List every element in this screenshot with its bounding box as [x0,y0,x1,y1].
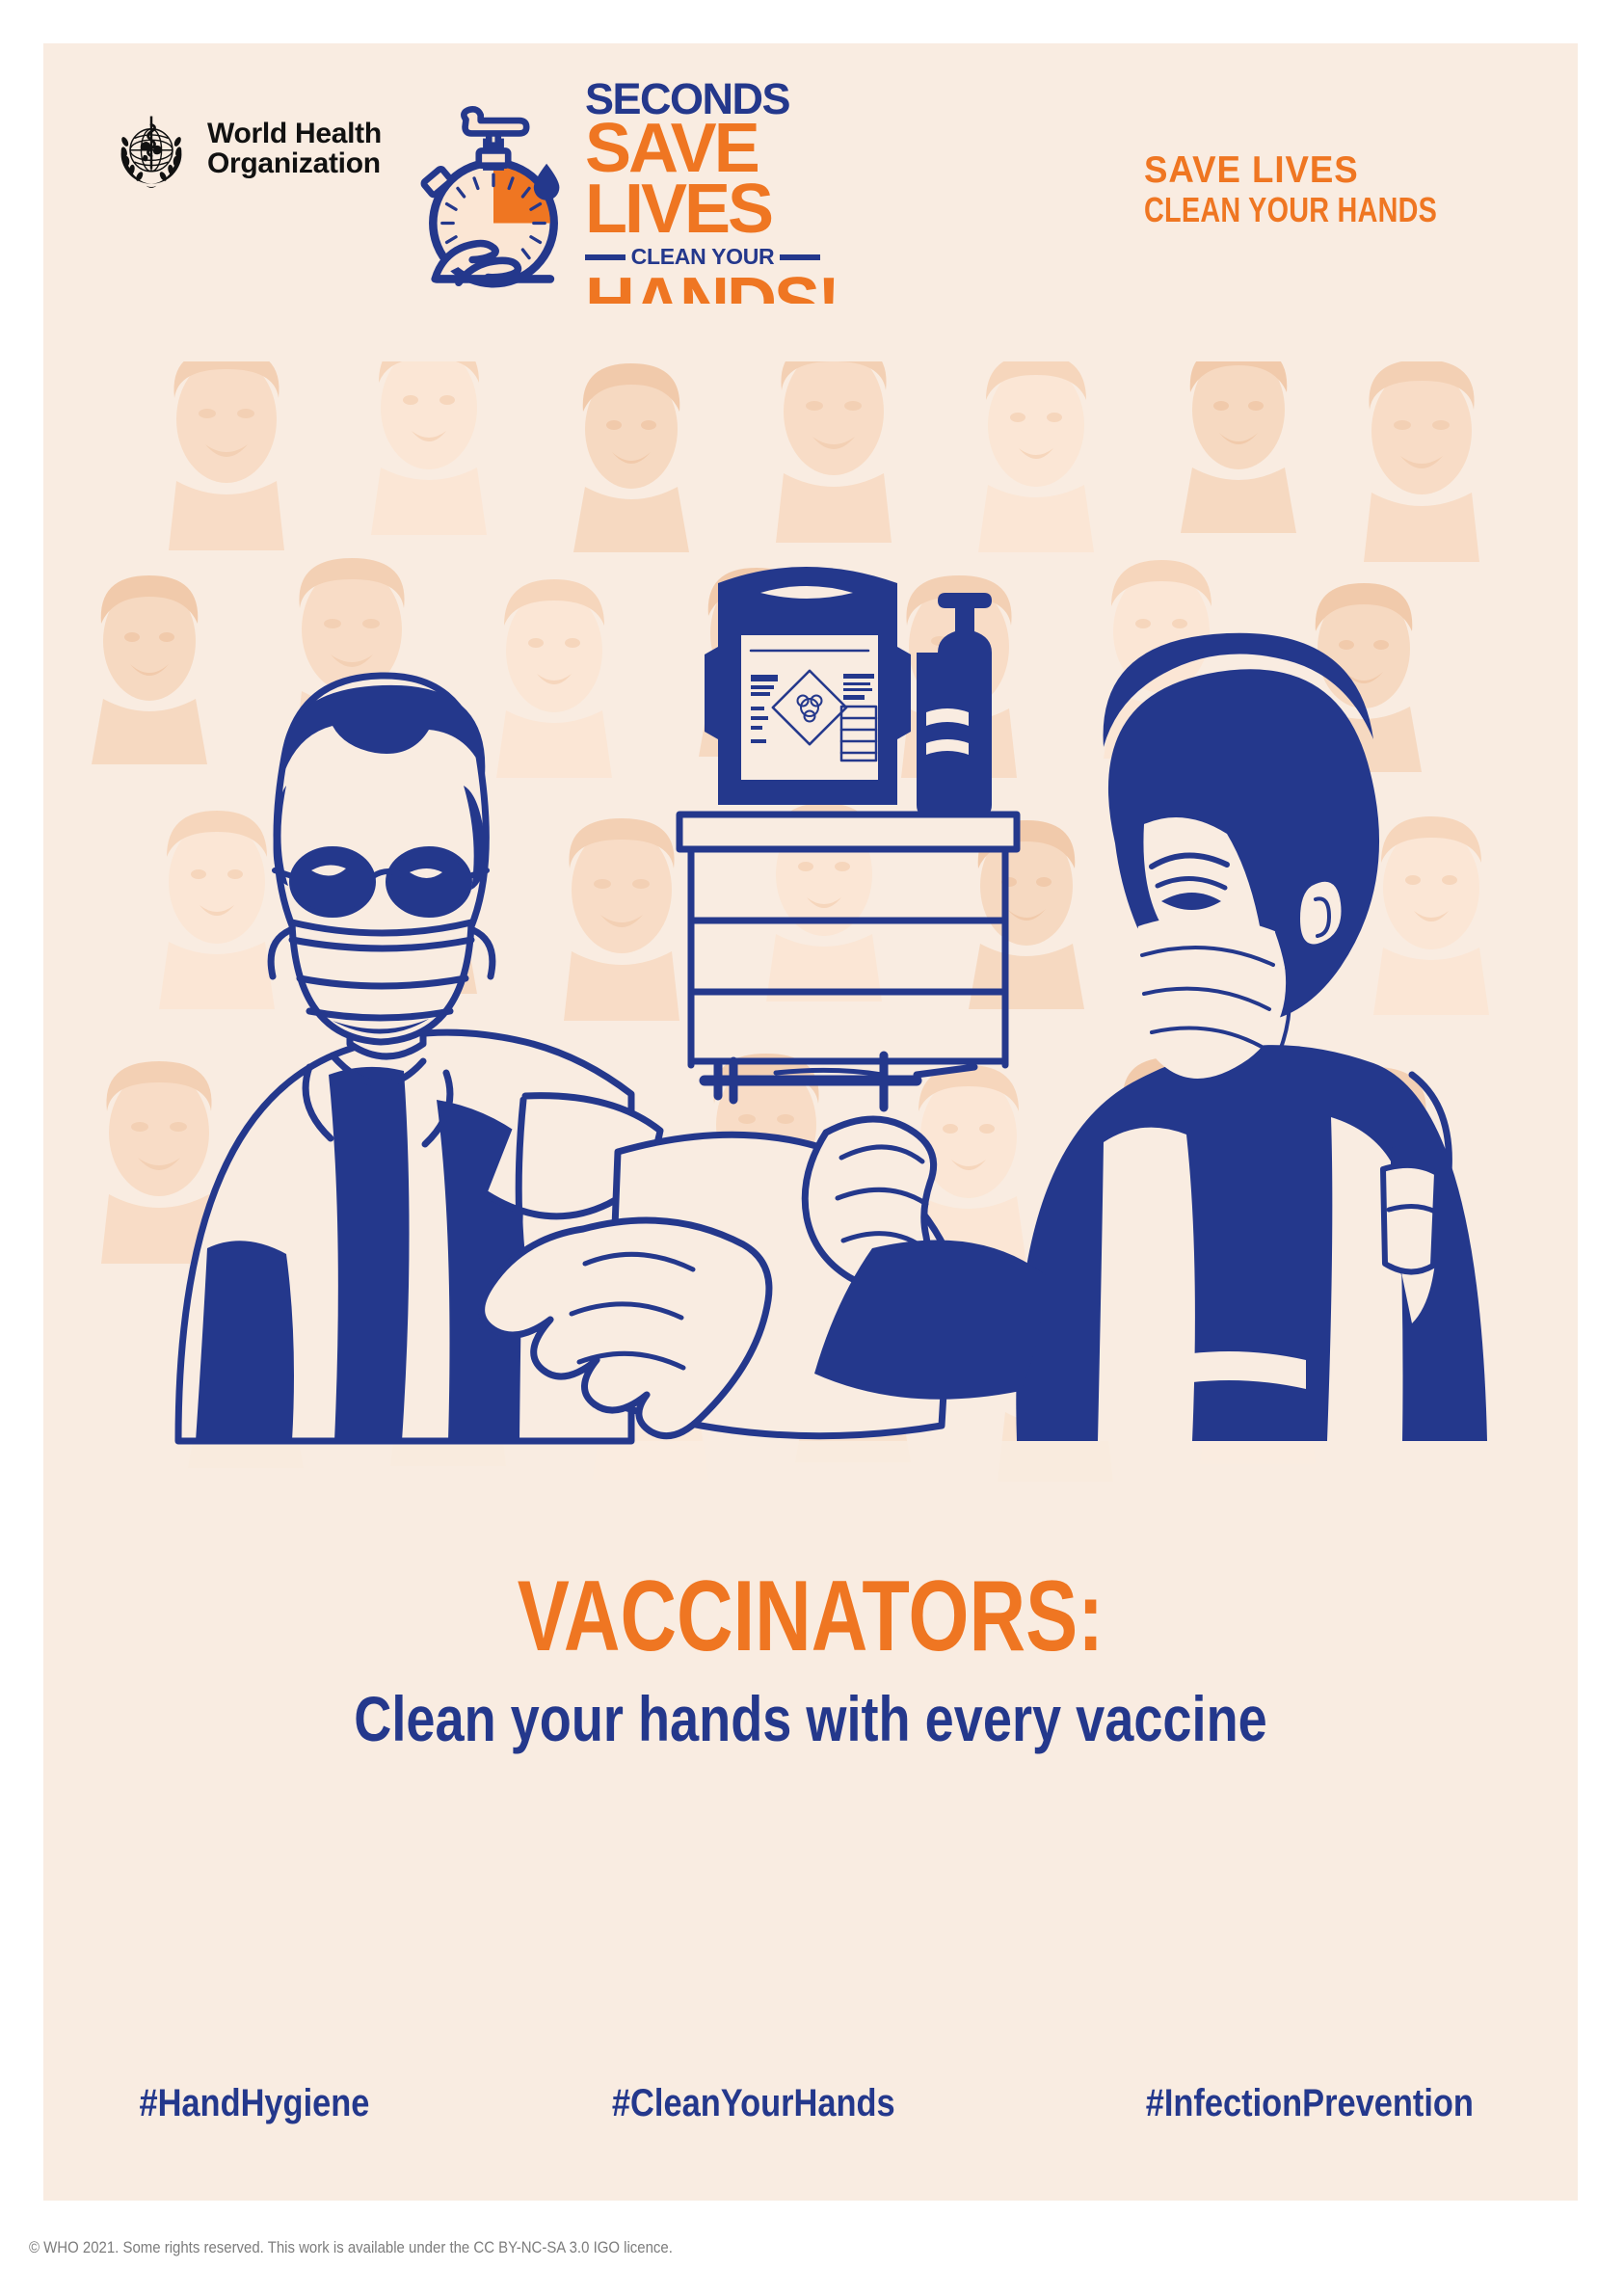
headline-block: VACCINATORS: Clean your hands with every… [43,1566,1578,1754]
copyright-notice: © WHO 2021. Some rights reserved. This w… [29,2238,673,2257]
illustration-area [43,304,1578,1537]
poster-header: World Health Organization [43,43,1578,304]
who-emblem-icon [109,106,194,191]
slogan-line-1: SAVE LIVES [1144,151,1488,191]
hashtag-hand-hygiene[interactable]: #HandHygiene [139,2082,369,2125]
slogan-block: SAVE LIVES CLEAN YOUR HANDS [1144,151,1510,229]
hashtag-infection-prevention[interactable]: #InfectionPrevention [1146,2082,1474,2125]
rule-right [780,254,820,260]
hand-sanitizer-pump-bottle [917,593,992,816]
who-logo: World Health Organization [109,106,382,191]
campaign-type: SECONDS SAVE LIVES CLEAN YOUR HANDS! [585,80,816,334]
hashtag-row: #HandHygiene #CleanYourHands #InfectionP… [120,2082,1501,2125]
poster-panel: World Health Organization [43,43,1578,2201]
vaccinator-and-patient-illustration [43,304,1578,1537]
campaign-line-lives: LIVES [585,179,816,240]
slogan-line-2: CLEAN YOUR HANDS [1144,191,1437,229]
hashtag-clean-your-hands[interactable]: #CleanYourHands [612,2082,895,2125]
campaign-lockup: SECONDS SAVE LIVES CLEAN YOUR HANDS! [402,61,816,292]
page-title: VACCINATORS: [212,1566,1409,1667]
vaccine-vial [1383,1144,1437,1271]
sharps-disposal-container [705,567,911,805]
soap-dispenser-stopwatch-hands-icon [402,99,585,292]
health-worker-with-mask-administering-vaccine [1016,633,1487,1441]
who-wordmark: World Health Organization [207,119,382,178]
trolley-table [679,814,1017,1065]
page-subtitle: Clean your hands with every vaccine [181,1684,1439,1754]
rule-left [585,254,626,260]
